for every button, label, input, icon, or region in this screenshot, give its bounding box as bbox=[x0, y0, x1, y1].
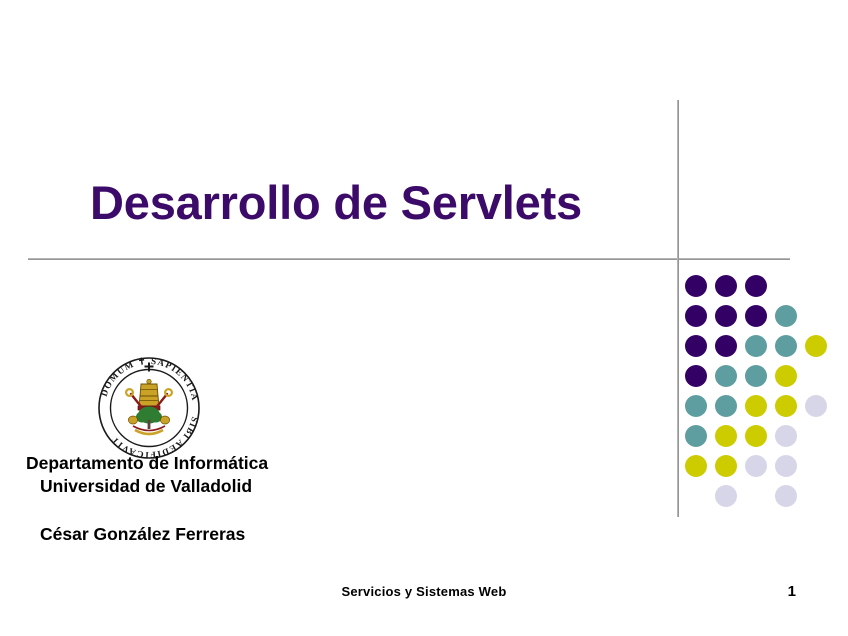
decorative-dot-yellow bbox=[715, 425, 737, 447]
universidad-de-valladolid-logo: DOMUM ✝ SAPIENTIA SIBI AEDIFICAVIT bbox=[97, 356, 201, 460]
decorative-dot-purple bbox=[715, 335, 737, 357]
author-name: César González Ferreras bbox=[26, 524, 446, 545]
decorative-dot-purple bbox=[715, 305, 737, 327]
decorative-dot-purple bbox=[685, 335, 707, 357]
presentation-slide: Desarrollo de Servlets DOMUM ✝ SAPIENTIA… bbox=[0, 0, 848, 636]
decorative-dot-teal bbox=[775, 305, 797, 327]
affiliation-department: Departamento de Informática bbox=[26, 452, 446, 475]
decorative-dot-teal bbox=[745, 335, 767, 357]
decorative-dot-yellow bbox=[775, 365, 797, 387]
decorative-dot-yellow bbox=[745, 425, 767, 447]
decorative-dot-lavender bbox=[775, 425, 797, 447]
page-title: Desarrollo de Servlets bbox=[0, 178, 672, 229]
decorative-dot-teal bbox=[685, 395, 707, 417]
decorative-dot-yellow bbox=[775, 395, 797, 417]
decorative-dot-lavender bbox=[805, 395, 827, 417]
footer-page-number: 1 bbox=[788, 583, 796, 600]
decorative-dot-yellow bbox=[715, 455, 737, 477]
decorative-dot-purple bbox=[685, 305, 707, 327]
vertical-divider-rule bbox=[677, 100, 679, 517]
decorative-dot-lavender bbox=[775, 455, 797, 477]
decorative-dot-yellow bbox=[805, 335, 827, 357]
decorative-dot-lavender bbox=[745, 455, 767, 477]
decorative-dot-purple bbox=[715, 275, 737, 297]
decorative-dot-lavender bbox=[775, 485, 797, 507]
decorative-dot-teal bbox=[715, 365, 737, 387]
horizontal-divider-rule bbox=[28, 258, 790, 260]
footer-course-title: Servicios y Sistemas Web bbox=[0, 584, 848, 599]
decorative-dot-purple bbox=[685, 365, 707, 387]
decorative-dot-purple bbox=[745, 305, 767, 327]
decorative-dot-teal bbox=[775, 335, 797, 357]
decorative-dot-lavender bbox=[715, 485, 737, 507]
decorative-dot-teal bbox=[715, 395, 737, 417]
decorative-dot-teal bbox=[745, 365, 767, 387]
decorative-dot-purple bbox=[745, 275, 767, 297]
affiliation-block: Departamento de Informática Universidad … bbox=[26, 452, 446, 499]
decorative-dot-yellow bbox=[685, 455, 707, 477]
decorative-dot-yellow bbox=[745, 395, 767, 417]
decorative-dot-teal bbox=[685, 425, 707, 447]
decorative-dot-purple bbox=[685, 275, 707, 297]
decorative-dot-grid bbox=[685, 275, 840, 490]
affiliation-university: Universidad de Valladolid bbox=[26, 475, 446, 498]
